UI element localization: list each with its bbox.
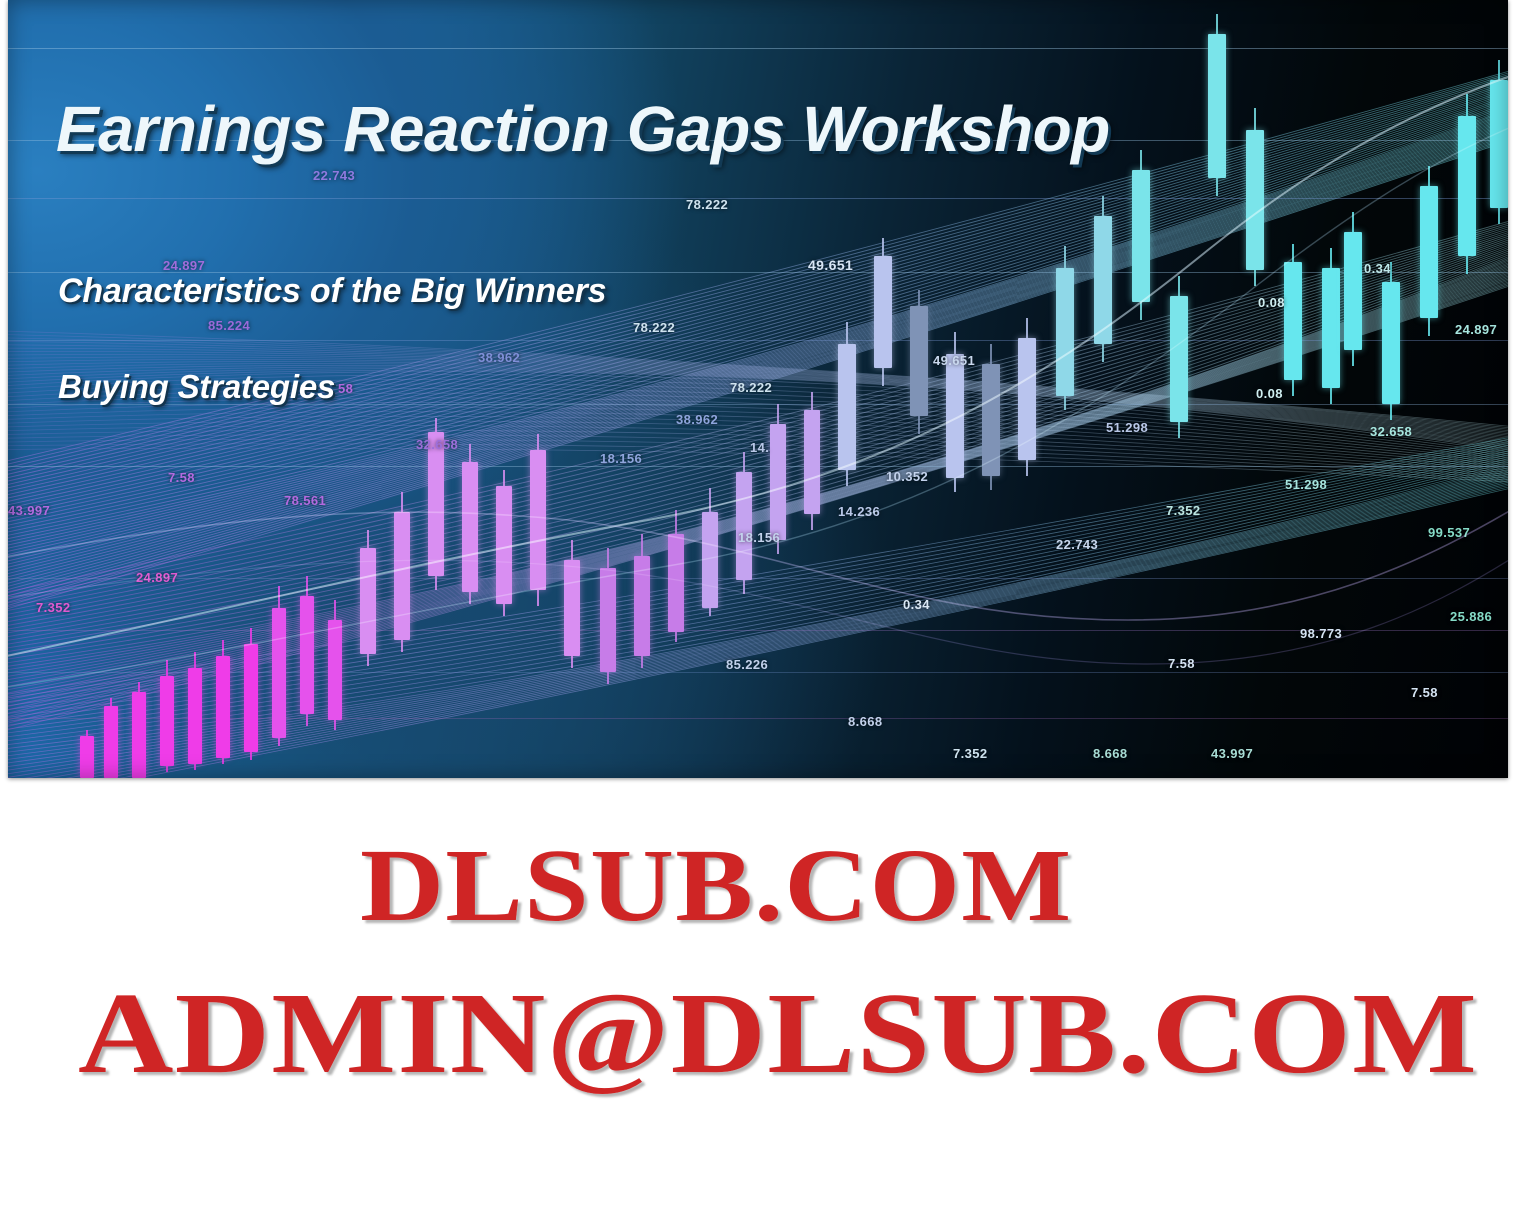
banner-image: 22.74378.22224.89749.6510.340.0885.22478… [8, 0, 1508, 778]
watermark-site: DLSUB.COM [360, 826, 1072, 945]
watermark-email: ADMIN@DLSUB.COM [78, 968, 1478, 1101]
trend-curve-overlay [8, 0, 1508, 778]
